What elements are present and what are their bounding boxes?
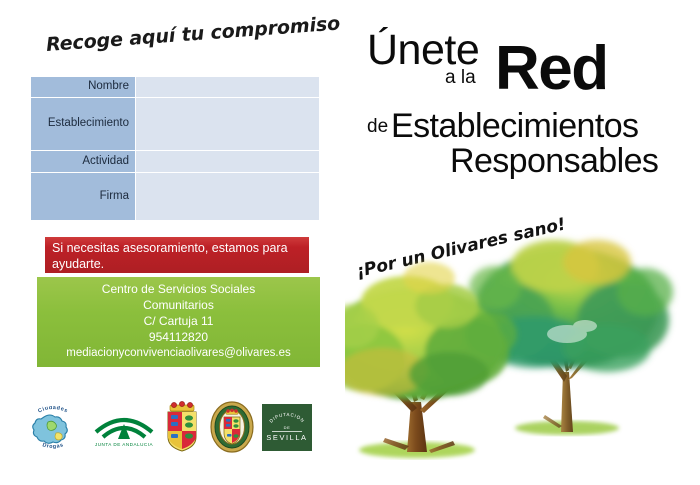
ciudades-drogas-icon: Ciudades Drogas [22, 406, 84, 452]
table-row: Firma [31, 173, 319, 220]
logo-strip: Ciudades Drogas JUNTA DE ANDALUCIA [14, 398, 314, 460]
ciudades-drogas-logo: Ciudades Drogas [22, 406, 84, 452]
field-label-nombre: Nombre [31, 77, 135, 97]
svg-text:Ciudades: Ciudades [37, 406, 69, 415]
headline-red: Red [495, 33, 608, 104]
diputacion-sevilla-logo: DIPUTACION DE SEVILLA [262, 404, 312, 451]
contact-info-box: Centro de Servicios Sociales Comunitario… [37, 277, 320, 367]
commitment-form-table: Nombre Establecimiento Actividad Firma [30, 76, 320, 221]
headline-responsables: Responsables [450, 142, 658, 181]
contact-line-2: Comunitarios [37, 298, 320, 314]
trees-illustration [345, 222, 700, 485]
contact-email[interactable]: mediacionyconvivenciaolivares@olivares.e… [37, 346, 320, 361]
form-panel: Recoge aquí tu compromiso Nombre Estable… [0, 0, 345, 485]
escudo-olivares-logo [162, 401, 202, 453]
headline-establecimientos: Establecimientos [391, 107, 638, 146]
table-row: Establecimiento [31, 98, 319, 150]
contact-address: C/ Cartuja 11 [37, 314, 320, 330]
coat-of-arms-icon [162, 401, 202, 453]
poster-panel: Únete a la Red de Establecimientos Respo… [345, 0, 700, 485]
form-title: Recoge aquí tu compromiso [45, 12, 340, 56]
svg-text:DIPUTACION: DIPUTACION [268, 412, 305, 424]
field-input-establecimiento[interactable] [136, 98, 319, 150]
field-label-firma: Firma [31, 173, 135, 220]
field-input-nombre[interactable] [136, 77, 319, 97]
seal-icon [210, 401, 254, 453]
advice-banner: Si necesitas asesoramiento, estamos para… [45, 237, 309, 273]
junta-andalucia-logo: JUNTA DE ANDALUCIA [90, 410, 158, 448]
svg-text:DE: DE [284, 425, 291, 430]
svg-text:SEVILLA: SEVILLA [266, 433, 307, 442]
junta-andalucia-icon: JUNTA DE ANDALUCIA [90, 410, 158, 448]
field-label-actividad: Actividad [31, 151, 135, 172]
table-row: Actividad [31, 151, 319, 172]
field-input-actividad[interactable] [136, 151, 319, 172]
table-row: Nombre [31, 77, 319, 97]
svg-text:Drogas: Drogas [41, 442, 64, 450]
svg-text:JUNTA DE ANDALUCIA: JUNTA DE ANDALUCIA [95, 442, 154, 447]
headline-a-la: a la [445, 67, 476, 89]
contact-phone: 954112820 [37, 330, 320, 346]
diputacion-sevilla-icon: DIPUTACION DE SEVILLA [262, 404, 312, 451]
field-label-establecimiento: Establecimiento [31, 98, 135, 150]
field-input-firma[interactable] [136, 173, 319, 220]
sello-municipal-logo [210, 401, 254, 453]
contact-line-1: Centro de Servicios Sociales [37, 282, 320, 298]
headline-de: de [367, 116, 388, 138]
